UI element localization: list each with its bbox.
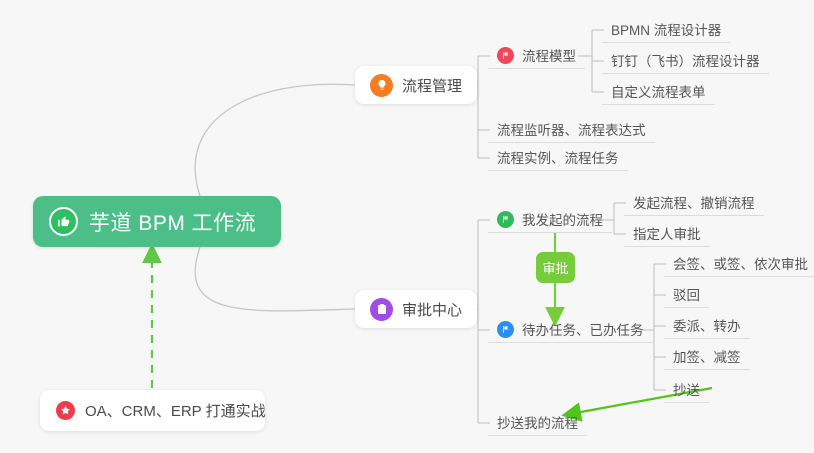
node-reject[interactable]: 驳回	[664, 281, 709, 308]
thumbs-up-icon	[49, 207, 78, 236]
node-cc-label: 抄送	[673, 379, 700, 399]
node-reject-label: 驳回	[673, 284, 700, 304]
root-label: 芋道 BPM 工作流	[89, 207, 256, 237]
node-delegate-transfer[interactable]: 委派、转办	[664, 312, 750, 339]
mindmap-canvas: 芋道 BPM 工作流 流程管理 流程模型 BPMN 流程设计器 钉钉（飞书）流程…	[0, 0, 814, 453]
node-my-started-processes[interactable]: 我发起的流程	[488, 206, 612, 233]
node-process-model[interactable]: 流程模型	[488, 42, 585, 69]
branch-approval-center-label: 审批中心	[402, 299, 462, 320]
node-delegate-transfer-label: 委派、转办	[673, 315, 741, 335]
lightbulb-icon	[370, 74, 393, 97]
node-bpmn-designer-label: BPMN 流程设计器	[611, 19, 721, 39]
node-bpmn-designer[interactable]: BPMN 流程设计器	[602, 16, 730, 43]
flag-icon	[497, 321, 514, 338]
node-countersign-label: 会签、或签、依次审批	[673, 253, 808, 273]
node-custom-process-form[interactable]: 自定义流程表单	[602, 78, 715, 105]
star-icon	[56, 401, 75, 420]
flag-icon	[497, 211, 514, 228]
node-add-remove-sign-label: 加签、减签	[673, 346, 741, 366]
node-assignee-approval-label: 指定人审批	[633, 223, 701, 243]
callout-label: OA、CRM、ERP 打通实战	[85, 400, 266, 421]
node-add-remove-sign[interactable]: 加签、减签	[664, 343, 750, 370]
node-todo-done-tasks[interactable]: 待办任务、已办任务	[488, 316, 653, 343]
node-custom-process-form-label: 自定义流程表单	[611, 81, 706, 101]
node-cc[interactable]: 抄送	[664, 376, 709, 403]
branch-process-management-label: 流程管理	[402, 75, 462, 96]
node-start-cancel-process[interactable]: 发起流程、撤销流程	[624, 189, 764, 216]
node-process-listener-expression-label: 流程监听器、流程表达式	[497, 119, 646, 139]
node-process-instance-task-label: 流程实例、流程任务	[497, 147, 619, 167]
branch-approval-center[interactable]: 审批中心	[355, 290, 477, 328]
node-dingtalk-feishu-designer-label: 钉钉（飞书）流程设计器	[611, 50, 760, 70]
node-dingtalk-feishu-designer[interactable]: 钉钉（飞书）流程设计器	[602, 47, 769, 74]
node-process-model-label: 流程模型	[522, 45, 576, 65]
node-process-instance-task[interactable]: 流程实例、流程任务	[488, 144, 628, 171]
flag-icon	[497, 47, 514, 64]
branch-process-management[interactable]: 流程管理	[355, 66, 477, 104]
clipboard-icon	[370, 298, 393, 321]
node-countersign[interactable]: 会签、或签、依次审批	[664, 250, 814, 277]
link-root-to-process	[195, 84, 355, 196]
node-process-listener-expression[interactable]: 流程监听器、流程表达式	[488, 116, 655, 143]
node-cc-my-processes-label: 抄送我的流程	[497, 412, 578, 432]
approval-badge-label: 审批	[542, 258, 568, 277]
node-assignee-approval[interactable]: 指定人审批	[624, 220, 710, 247]
link-root-to-approval	[195, 247, 355, 311]
node-cc-my-processes[interactable]: 抄送我的流程	[488, 409, 587, 436]
node-start-cancel-process-label: 发起流程、撤销流程	[633, 192, 755, 212]
root-node[interactable]: 芋道 BPM 工作流	[33, 196, 281, 247]
node-todo-done-tasks-label: 待办任务、已办任务	[522, 319, 644, 339]
callout-card[interactable]: OA、CRM、ERP 打通实战	[40, 390, 265, 431]
approval-badge: 审批	[536, 252, 575, 283]
node-my-started-processes-label: 我发起的流程	[522, 209, 603, 229]
